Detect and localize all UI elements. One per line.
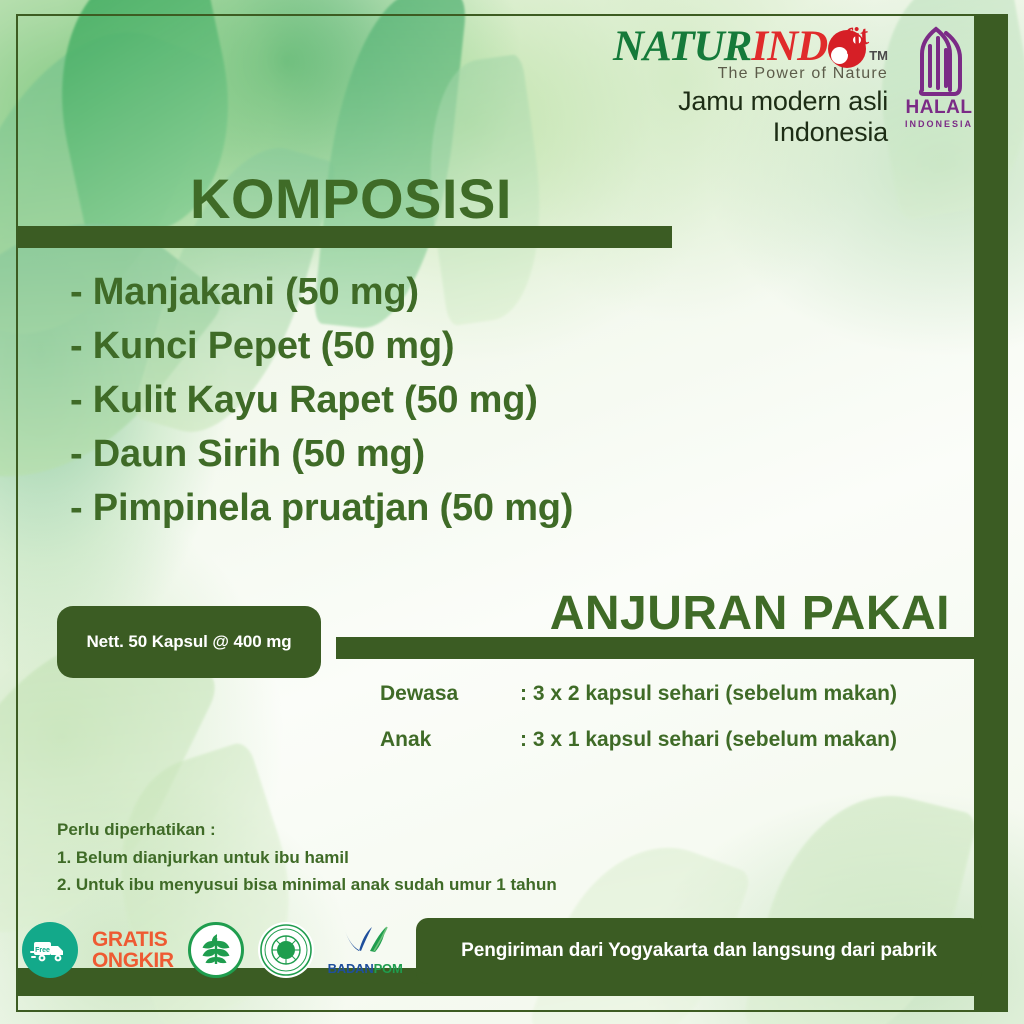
halal-calligraphy-icon [910,24,968,96]
shipping-info-banner: Pengiriman dari Yogyakarta dan langsung … [416,918,982,984]
warnings-title: Perlu diperhatikan : [57,816,557,844]
ingredients-list: - Manjakani (50 mg) - Kunci Pepet (50 mg… [70,266,710,536]
brand-tagline: The Power of Nature [560,65,888,83]
badan-pom-swoosh-icon [341,925,389,955]
dosage-label: Anak [380,728,520,752]
indonesian-herbal-seal-badge [258,922,314,978]
badan-pom-badge: BADANPOM [328,925,403,976]
ingredient-item: - Kulit Kayu Rapet (50 mg) [70,374,710,428]
plant-leaf-icon [196,930,236,970]
warnings-section: Perlu diperhatikan : 1. Belum dianjurkan… [57,816,557,899]
halal-country: INDONESIA [898,119,980,129]
dosage-label: Dewasa [380,682,520,706]
halal-certification-logo: HALAL INDONESIA [898,22,980,129]
dosage-value: : 3 x 2 kapsul sehari (sebelum makan) [520,682,897,706]
brand-name-natur: NATUR [613,26,751,67]
halal-label: HALAL [898,97,980,119]
warning-item: 2. Untuk ibu menyusui bisa minimal anak … [57,871,557,899]
warning-item: 1. Belum dianjurkan untuk ibu hamil [57,844,557,872]
free-shipping-label: GRATIS ONGKIR [92,929,174,972]
herbal-seal-icon [258,922,314,978]
komposisi-divider-bar [16,226,672,248]
ingredient-item: - Daun Sirih (50 mg) [70,428,710,482]
net-weight-badge: Nett. 50 Kapsul @ 400 mg [57,606,321,678]
brand-name-ind: IND [751,26,827,67]
pom-badan-text: BADAN [328,961,374,976]
dosage-row: Dewasa : 3 x 2 kapsul sehari (sebelum ma… [380,682,970,706]
komposisi-heading: KOMPOSISI [190,166,512,231]
ingredient-item: - Kunci Pepet (50 mg) [70,320,710,374]
brand-logo: NATURINDTM The Power of Nature Jamu mode… [560,22,888,148]
anjuran-divider-bar [336,637,1008,659]
delivery-truck-icon: Free [30,935,70,965]
brand-header: NATURINDTM The Power of Nature Jamu mode… [560,22,980,142]
trademark-mark: TM [869,48,888,63]
dosage-row: Anak : 3 x 1 kapsul sehari (sebelum maka… [380,728,970,752]
ingredient-item: - Manjakani (50 mg) [70,266,710,320]
gratis-line-2: ONGKIR [92,950,174,971]
product-label-page: NATURINDTM The Power of Nature Jamu mode… [0,0,1024,1024]
certification-badges-row: Free GRATIS ONGKIR [22,922,403,978]
ingredient-item: - Pimpinela pruatjan (50 mg) [70,482,710,536]
free-shipping-icon: Free [22,922,78,978]
anjuran-pakai-heading: ANJURAN PAKAI [550,586,950,641]
dosage-table: Dewasa : 3 x 2 kapsul sehari (sebelum ma… [380,682,970,774]
right-vertical-band [974,14,1008,1012]
svg-text:Free: Free [35,947,50,954]
pom-pom-text: POM [374,961,403,976]
gratis-line-1: GRATIS [92,929,174,950]
badan-pom-label: BADANPOM [328,961,403,976]
dosage-value: : 3 x 1 kapsul sehari (sebelum makan) [520,728,897,752]
brand-subtagline: Jamu modern asli Indonesia [560,86,888,148]
herbal-plant-badge [188,922,244,978]
